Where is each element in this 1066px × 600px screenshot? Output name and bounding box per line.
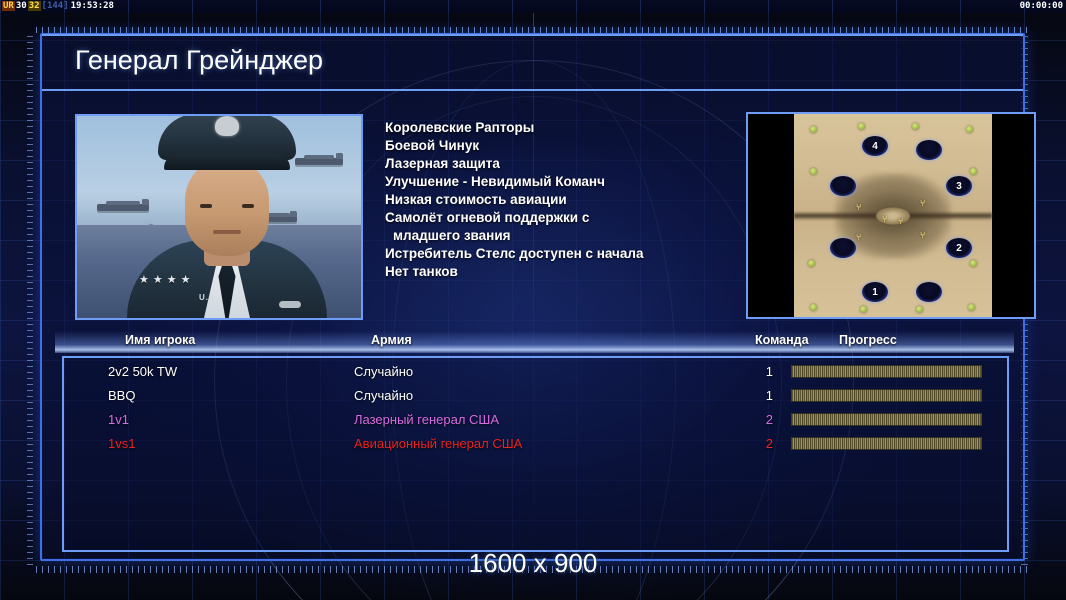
map-supply-dock-icon bbox=[810, 126, 817, 133]
column-header-army: Армия bbox=[371, 333, 412, 347]
map-tech-structure-icon: ⑂ bbox=[898, 216, 903, 226]
ability-item: Боевой Чинук bbox=[385, 137, 705, 155]
map-supply-dock-icon bbox=[808, 260, 815, 267]
player-team: 2 bbox=[747, 432, 773, 456]
officer-figure: ★★★★ U.S. bbox=[127, 150, 327, 318]
player-progress-bar bbox=[791, 365, 982, 378]
map-start-position-occupied: 1 bbox=[862, 282, 888, 302]
ability-item: Лазерная защита bbox=[385, 155, 705, 173]
officer-eye-left bbox=[200, 204, 212, 208]
map-supply-dock-icon bbox=[970, 260, 977, 267]
player-army: Лазерный генерал США bbox=[354, 408, 499, 432]
map-tech-structure-icon: ⑂ bbox=[920, 198, 925, 208]
map-start-position-empty bbox=[830, 176, 856, 196]
officer-eye-right bbox=[242, 204, 254, 208]
resolution-label: 1600 x 900 bbox=[0, 548, 1066, 579]
map-start-position-occupied: 4 bbox=[862, 136, 888, 156]
map-supply-dock-icon bbox=[968, 304, 975, 311]
player-name: BBQ bbox=[108, 384, 135, 408]
perf-value-2: 32 bbox=[28, 1, 41, 11]
session-clock: 00:00:00 bbox=[1020, 0, 1063, 13]
map-start-position-empty bbox=[916, 282, 942, 302]
ability-item: Низкая стоимость авиации bbox=[385, 191, 705, 209]
table-row[interactable]: 1vs1Авиационный генерал США2 bbox=[64, 432, 1007, 456]
map-tech-structure-icon: ⑂ bbox=[856, 202, 861, 212]
ability-item: младшего звания bbox=[385, 227, 705, 245]
map-terrain: 4321⑂⑂⑂⑂⑂⑂ bbox=[794, 114, 992, 317]
panel-title-bar: Генерал Грейнджер bbox=[42, 35, 1023, 91]
ability-item: Улучшение - Невидимый Команч bbox=[385, 173, 705, 191]
player-progress-bar bbox=[791, 389, 982, 402]
map-tech-structure-icon: ⑂ bbox=[856, 232, 861, 242]
performance-readout: UR3032[144]19:53:28 bbox=[2, 0, 115, 13]
map-supply-dock-icon bbox=[970, 168, 977, 175]
table-row[interactable]: 2v2 50k TWСлучайно1 bbox=[64, 360, 1007, 384]
map-tech-structure-icon: ⑂ bbox=[920, 230, 925, 240]
map-supply-dock-icon bbox=[860, 306, 867, 313]
player-table: Имя игрока Армия Команда Прогресс 2v2 50… bbox=[42, 331, 1023, 561]
map-supply-dock-icon bbox=[912, 123, 919, 130]
page-title: Генерал Грейнджер bbox=[75, 45, 323, 76]
cap-brim bbox=[164, 153, 290, 170]
perf-bracket: [144] bbox=[41, 1, 70, 11]
ability-item: Нет танков bbox=[385, 263, 705, 281]
officer-face bbox=[185, 158, 269, 256]
map-start-position-occupied: 2 bbox=[946, 238, 972, 258]
map-supply-dock-icon bbox=[916, 306, 923, 313]
cap-badge-icon bbox=[215, 116, 239, 136]
map-supply-dock-icon bbox=[858, 123, 865, 130]
ruler-left bbox=[27, 36, 33, 566]
top-status-bar: UR3032[144]19:53:28 00:00:00 bbox=[0, 0, 1066, 13]
player-team: 1 bbox=[747, 384, 773, 408]
general-portrait: ★★★★ U.S. bbox=[75, 114, 363, 320]
ability-item: Самолёт огневой поддержки с bbox=[385, 209, 705, 227]
map-preview: 4321⑂⑂⑂⑂⑂⑂ bbox=[746, 112, 1036, 319]
general-abilities-list: Королевские РапторыБоевой ЧинукЛазерная … bbox=[385, 119, 705, 281]
player-team: 2 bbox=[747, 408, 773, 432]
player-table-header: Имя игрока Армия Команда Прогресс bbox=[55, 331, 1014, 353]
perf-value-1: 30 bbox=[15, 1, 28, 11]
map-start-position-empty bbox=[830, 238, 856, 258]
player-name: 2v2 50k TW bbox=[108, 360, 177, 384]
map-supply-dock-icon bbox=[810, 168, 817, 175]
officer-mouth bbox=[213, 230, 241, 234]
wings-badge-icon bbox=[279, 301, 301, 308]
perf-label: UR bbox=[2, 1, 15, 11]
column-header-progress: Прогресс bbox=[839, 333, 897, 347]
player-name: 1vs1 bbox=[108, 432, 135, 456]
map-supply-dock-icon bbox=[810, 304, 817, 311]
player-table-body: 2v2 50k TWСлучайно1BBQСлучайно11v1Лазерн… bbox=[62, 356, 1009, 552]
player-progress-bar bbox=[791, 437, 982, 450]
map-start-position-occupied: 3 bbox=[946, 176, 972, 196]
player-progress-bar bbox=[791, 413, 982, 426]
map-supply-dock-icon bbox=[966, 126, 973, 133]
map-tech-structure-icon: ⑂ bbox=[882, 214, 887, 224]
player-army: Случайно bbox=[354, 360, 413, 384]
column-header-team: Команда bbox=[755, 333, 809, 347]
general-info-row: ★★★★ U.S. Королевские РапторыБоевой Чину… bbox=[42, 109, 1023, 329]
ability-item: Истребитель Стелс доступен с начала bbox=[385, 245, 705, 263]
player-army: Авиационный генерал США bbox=[354, 432, 522, 456]
table-row[interactable]: BBQСлучайно1 bbox=[64, 384, 1007, 408]
column-header-player-name: Имя игрока bbox=[125, 333, 195, 347]
player-name: 1v1 bbox=[108, 408, 129, 432]
rank-stars-icon: ★★★★ bbox=[139, 274, 225, 286]
top-status-bar-grid bbox=[0, 0, 1066, 13]
table-row[interactable]: 1v1Лазерный генерал США2 bbox=[64, 408, 1007, 432]
general-info-panel: Генерал Грейнджер bbox=[40, 33, 1025, 561]
us-insignia-icon: U.S. bbox=[199, 293, 219, 302]
perf-time: 19:53:28 bbox=[70, 1, 115, 11]
map-start-position-empty bbox=[916, 140, 942, 160]
ability-item: Королевские Рапторы bbox=[385, 119, 705, 137]
player-army: Случайно bbox=[354, 384, 413, 408]
player-team: 1 bbox=[747, 360, 773, 384]
